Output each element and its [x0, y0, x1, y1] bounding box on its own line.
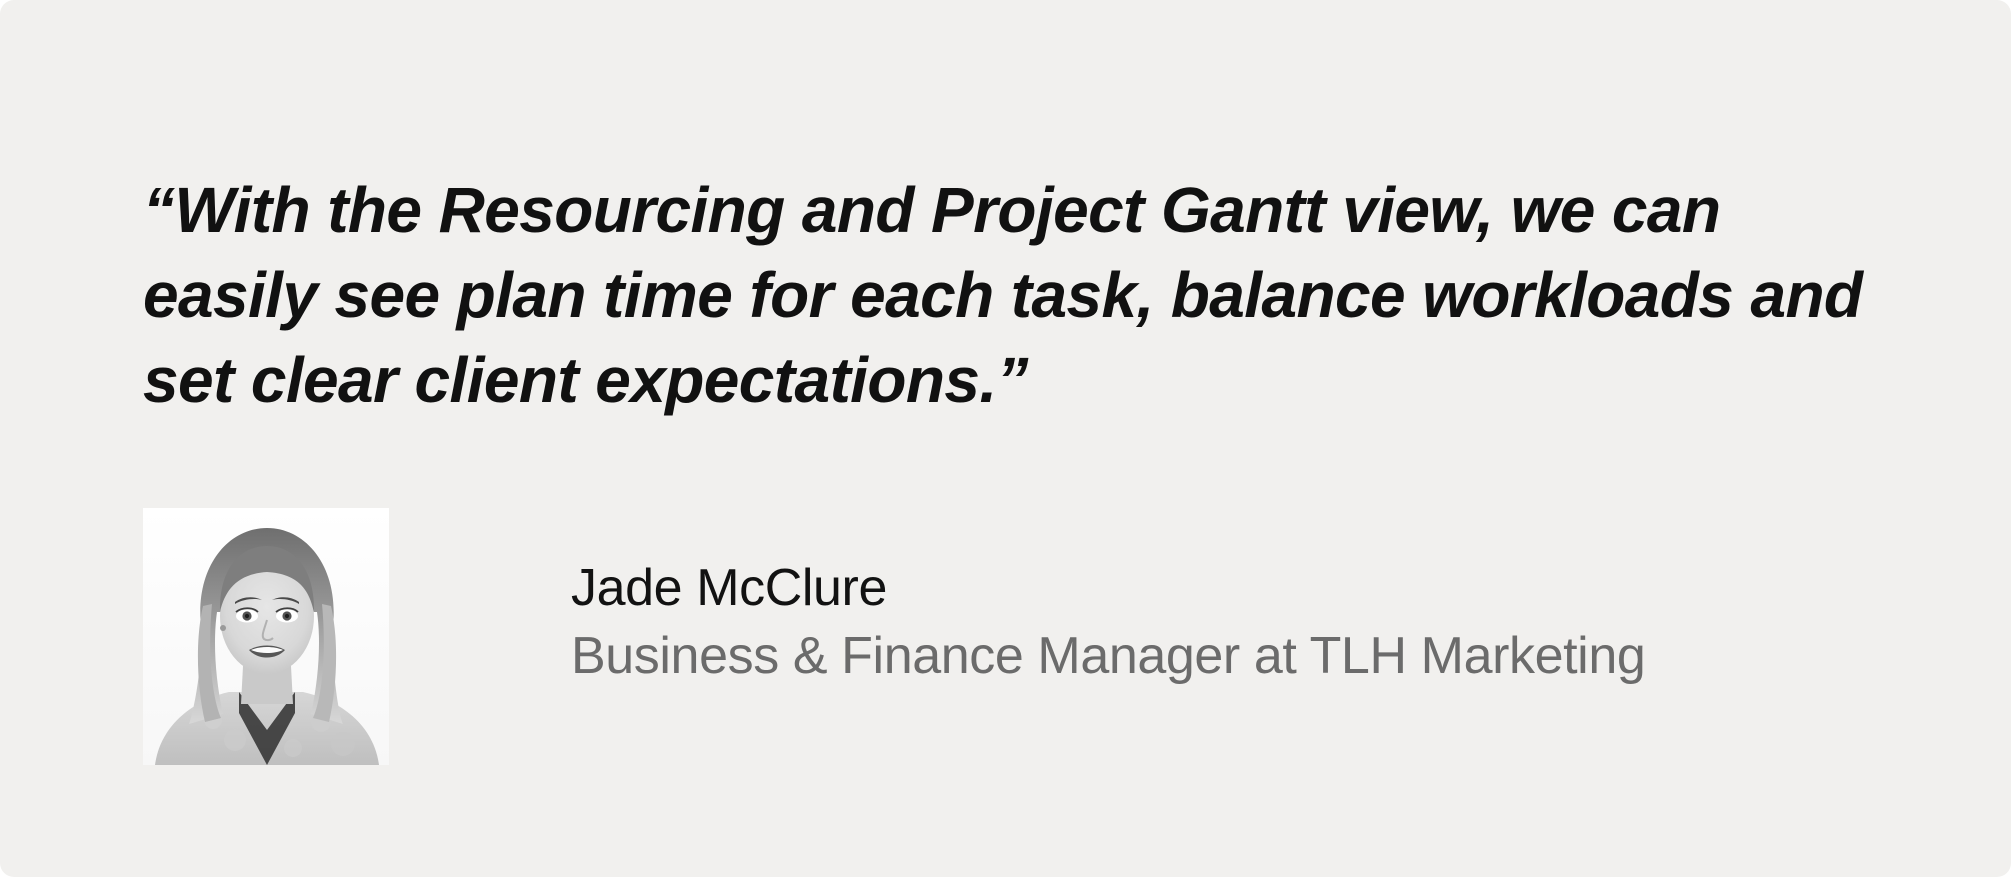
testimonial-card: “With the Resourcing and Project Gantt v… [0, 0, 2011, 877]
testimonial-card-content: “With the Resourcing and Project Gantt v… [143, 0, 1891, 877]
testimonial-attribution: Jade McClure Business & Finance Manager … [143, 508, 1645, 765]
testimonial-quote: “With the Resourcing and Project Gantt v… [143, 168, 1873, 423]
person-name: Jade McClure [571, 555, 1645, 621]
avatar [143, 508, 389, 765]
attribution-text: Jade McClure Business & Finance Manager … [571, 508, 1645, 691]
person-title: Business & Finance Manager at TLH Market… [571, 621, 1645, 691]
avatar-photo [143, 508, 389, 765]
